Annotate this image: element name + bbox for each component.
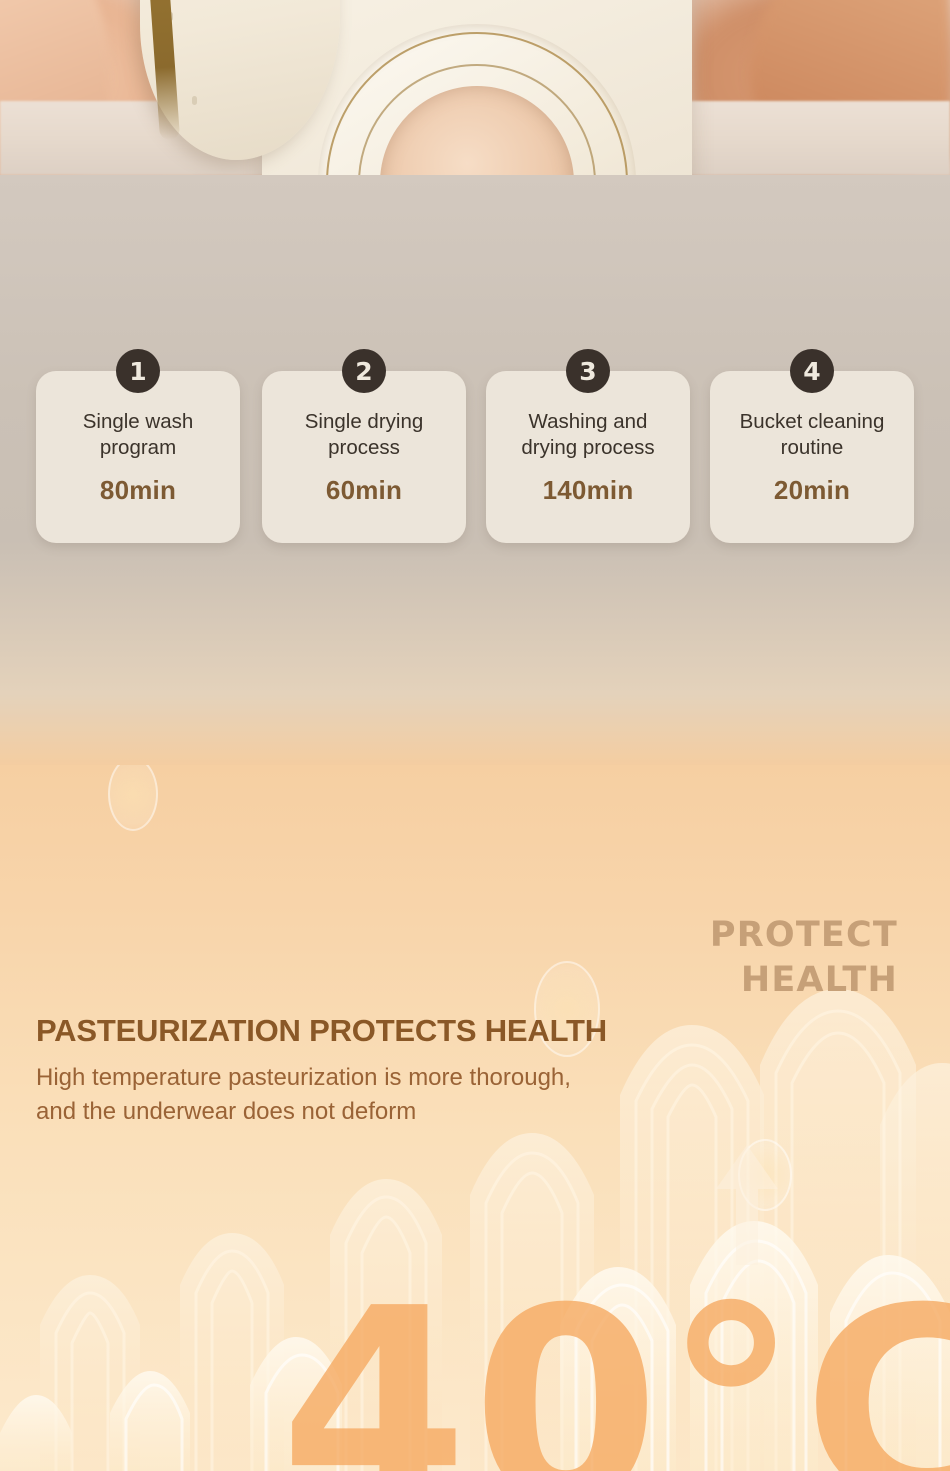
decorative-ring [738, 1139, 792, 1211]
pasteurization-section: 40°C PROTECT HEALTH PASTEURIZATION PROTE… [0, 765, 950, 1471]
product-feature-page: 1Single wash program80min2Single drying … [0, 0, 950, 1471]
step-badge-2: 2 [342, 349, 386, 393]
step-badge-4: 4 [790, 349, 834, 393]
step-duration: 140min [543, 475, 634, 506]
step-card-3: 3Washing and drying process140min [486, 371, 690, 543]
step-badge-3: 3 [566, 349, 610, 393]
hatch-vent-dot [192, 96, 197, 105]
wash-program-steps-section: 1Single wash program80min2Single drying … [0, 175, 950, 765]
step-title: Bucket cleaning routine [740, 409, 885, 461]
step-card-4: 4Bucket cleaning routine20min [710, 371, 914, 543]
product-photo [0, 0, 950, 175]
step-card-1: 1Single wash program80min [36, 371, 240, 543]
step-title: Single wash program [83, 409, 194, 461]
promo-subline: High temperature pasteurization is more … [36, 1061, 571, 1129]
promo-headline: PASTEURIZATION PROTECTS HEALTH [36, 1013, 607, 1049]
step-card-2: 2Single drying process60min [262, 371, 466, 543]
step-card-list: 1Single wash program80min2Single drying … [36, 371, 914, 543]
step-duration: 20min [774, 475, 850, 506]
decorative-ring [108, 765, 158, 831]
step-duration: 60min [326, 475, 402, 506]
step-title: Single drying process [305, 409, 424, 461]
big-temperature-number: 40°C [280, 1273, 950, 1471]
step-duration: 80min [100, 475, 176, 506]
step-badge-1: 1 [116, 349, 160, 393]
up-arrow-icon [716, 1145, 778, 1265]
watermark-text: PROTECT HEALTH [478, 913, 898, 1003]
step-title: Washing and drying process [521, 409, 654, 461]
